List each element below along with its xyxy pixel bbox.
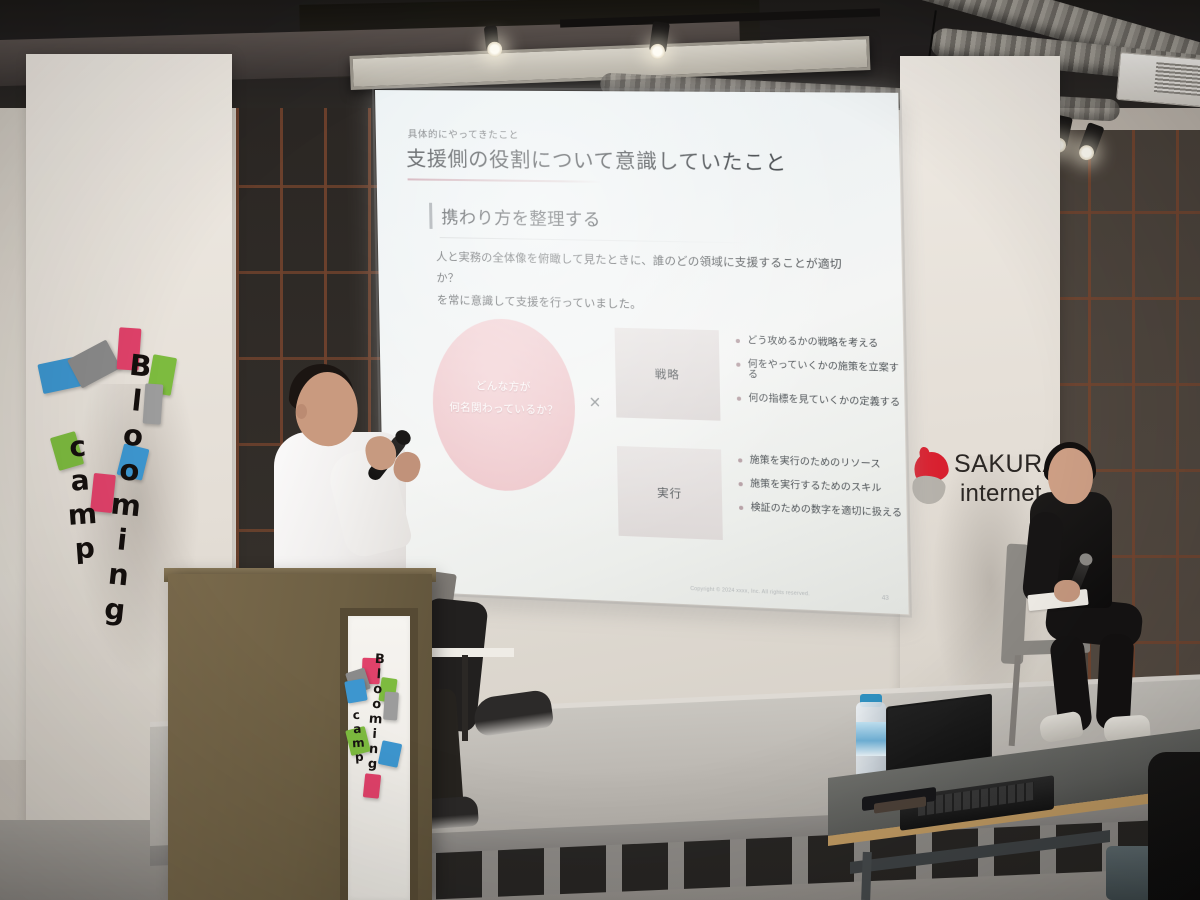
slide-bullets-execution: 施策を実行のためのリソース 施策を実行するためのスキル 検証のための数字を適切に… bbox=[738, 454, 909, 531]
bottle-label bbox=[856, 722, 886, 756]
projection-screen: 具体的にやってきたこと 支援側の役割について意識していたこと 携わり方を整理する… bbox=[375, 90, 909, 614]
slide-title-underline bbox=[408, 178, 601, 182]
moderator-head bbox=[1048, 448, 1093, 504]
list-item: 施策を実行のためのリソース bbox=[738, 454, 909, 470]
air-conditioner-unit bbox=[1116, 52, 1200, 108]
projected-slide: 具体的にやってきたこと 支援側の役割について意識していたこと 携わり方を整理する… bbox=[375, 90, 909, 614]
slide-circle-shape: どんな方が 何名関わっているか？ bbox=[431, 317, 576, 493]
slide-copyright: Copyright © 2024 xxxx, Inc. All rights r… bbox=[690, 586, 810, 598]
logo-chip bbox=[383, 692, 399, 721]
logo-chip bbox=[363, 773, 381, 799]
list-item: どう攻めるかの戦略を考える bbox=[736, 335, 907, 349]
speaker-ear bbox=[296, 404, 307, 419]
podium-logo-text-camp: camp bbox=[350, 708, 365, 765]
foreground-person-silhouette bbox=[1148, 752, 1200, 900]
slide-section-heading: 携わり方を整理する bbox=[441, 203, 601, 231]
podium-sign: Blooming camp bbox=[348, 616, 410, 900]
slide-bullets-strategy: どう攻めるかの戦略を考える 何をやっていくかの施策を立案する 何の指標を見ていく… bbox=[736, 335, 908, 421]
list-item: 何をやっていくかの施策を立案する bbox=[736, 358, 907, 383]
list-item: 何の指標を見ていくかの定義する bbox=[737, 392, 908, 407]
sakura-brand-sub: internet bbox=[960, 480, 1042, 508]
list-item: 検証のための数字を適切に扱える bbox=[739, 501, 909, 518]
slide-multiply-operator: × bbox=[589, 392, 601, 415]
moderator-hand bbox=[1054, 580, 1080, 602]
presentation-photo-scene: Blooming camp SAKURA internet 具体的にやってきたこ… bbox=[0, 0, 1200, 900]
sakura-internet-logo: SAKURA internet bbox=[912, 448, 1032, 520]
logo-text-camp: camp bbox=[63, 429, 98, 566]
section-underline bbox=[440, 237, 749, 243]
slide-page-number: 43 bbox=[882, 595, 889, 602]
slide-eyebrow: 具体的にやってきたこと bbox=[408, 126, 520, 141]
list-item: 施策を実行するためのスキル bbox=[738, 478, 908, 494]
slide-box-strategy: 戦略 bbox=[615, 328, 721, 421]
logo-chip bbox=[344, 678, 368, 703]
ac-vent-grille bbox=[1154, 62, 1200, 96]
section-accent-bar bbox=[429, 203, 433, 229]
slide-body-text: 人と実務の全体像を俯瞰して見たときに、誰のどの領域に支援することが適切か？ を常… bbox=[436, 247, 852, 321]
spotlight-icon bbox=[484, 25, 499, 50]
circle-line-2: 何名関わっているか？ bbox=[433, 396, 576, 423]
slide-box-execution: 実行 bbox=[617, 446, 723, 540]
slide-title: 支援側の役割について意識していたこと bbox=[406, 142, 787, 176]
background-side-table-leg bbox=[462, 655, 468, 741]
slide-circle-text: どんな方が 何名関わっているか？ bbox=[432, 374, 575, 423]
front-table-leg bbox=[861, 852, 872, 900]
